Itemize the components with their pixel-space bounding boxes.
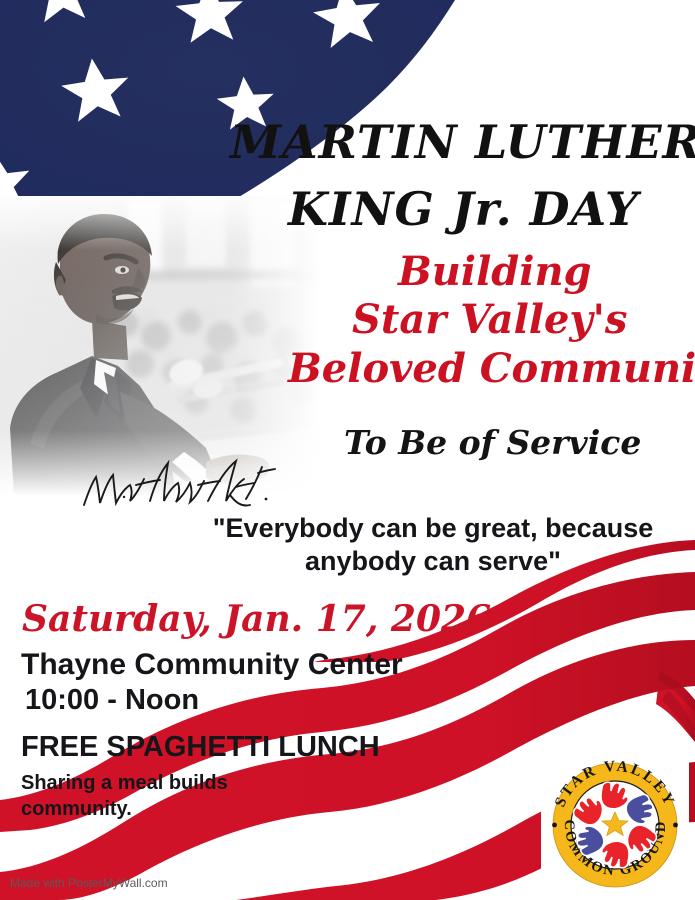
postermywall-watermark: Made with PosterMyWall.com <box>10 876 168 890</box>
event-date: Saturday, Jan. 17, 2026 <box>22 598 491 640</box>
event-venue: Thayne Community Center <box>21 648 403 682</box>
event-time: 10:00 - Noon <box>25 684 199 717</box>
theme-line-1: Building <box>398 248 592 295</box>
star-valley-common-ground-logo: STAR VALLEY COMMON GROUND <box>541 751 689 899</box>
poster-canvas: MARTIN LUTHER KING Jr. DAY Building Star… <box>0 0 695 900</box>
mlk-quote: "Everybody can be great, because anybody… <box>196 512 670 578</box>
poster-title-line-1: MARTIN LUTHER <box>230 115 695 169</box>
poster-title-line-2: KING Jr. DAY <box>288 182 639 236</box>
theme-line-3: Beloved Community <box>288 345 695 392</box>
meal-tagline: Sharing a meal builds community. <box>21 771 271 822</box>
signature-icon <box>80 455 280 515</box>
poster-subtitle: To Be of Service <box>344 423 641 462</box>
meal-headline: FREE SPAGHETTI LUNCH <box>21 731 380 764</box>
theme-line-2: Star Valley's <box>352 296 627 343</box>
